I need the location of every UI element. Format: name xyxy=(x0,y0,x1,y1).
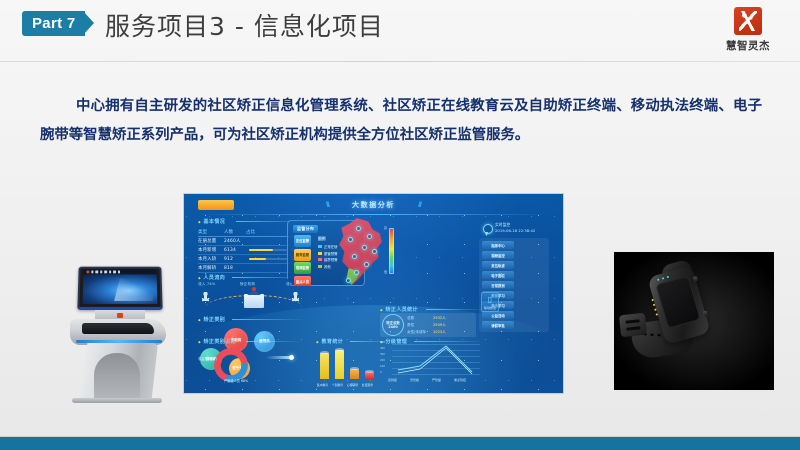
title-slash-right-icon: /// xyxy=(418,202,421,209)
body-paragraph: 中心拥有自主研发的社区矫正信息化管理系统、社区矫正在线教育云及自助矫正终端、移动… xyxy=(40,92,762,150)
panel-heading-basic-info: 基本情况 xyxy=(198,218,225,225)
stat-label: 男性 xyxy=(407,322,433,329)
quick-action[interactable]: 日常报到 xyxy=(482,281,514,289)
x-tick: 重点管控 xyxy=(454,378,466,382)
bar-item xyxy=(350,369,359,379)
panel-rule-barchart xyxy=(350,341,390,342)
wristband-product-image xyxy=(614,252,774,390)
map-marker[interactable] xyxy=(364,262,369,267)
map-marker[interactable] xyxy=(372,249,377,254)
watch-buckle xyxy=(619,313,647,338)
map-marker[interactable] xyxy=(356,226,361,231)
flow-label-in: 流入 74% xyxy=(198,282,216,287)
hud-icon-band[interactable]: 腕带监管 xyxy=(294,249,311,261)
phone-icon: ▯ xyxy=(482,293,498,306)
company-logo: 慧智灵杰 xyxy=(716,7,780,57)
x-tick: 普管级 xyxy=(410,378,419,382)
bar-label: 心理辅导 xyxy=(346,383,359,387)
stat-value: 2509人 xyxy=(433,322,446,329)
datetime-value: 2019-06-18 22:38:42 xyxy=(495,228,535,234)
bar-item xyxy=(365,372,374,379)
kiosk-wallpaper xyxy=(83,274,158,304)
x-tick: 严管级 xyxy=(432,378,441,382)
stat-row: 总数2932人 xyxy=(407,315,476,322)
level-line-chart: 500 400 300 200 100 0 宽管级 普管级 严管级 重点管控 xyxy=(380,342,480,382)
category-donut-chart: 非监禁刑执行 严管级人员 68% xyxy=(198,344,276,388)
panel-datetime: 实时监控 2019-06-18 22:38:42 xyxy=(495,222,535,234)
chart-series-path xyxy=(392,344,492,378)
hud-tab-label[interactable]: 监管分布 xyxy=(293,225,318,233)
page-header: Part 7 服务项目3 - 信息化项目 慧智灵杰 xyxy=(0,0,800,62)
bar-x-labels: 集中教育 个别教育 心理辅导 社区服务 xyxy=(316,383,374,387)
col-count: 人数 xyxy=(224,229,246,235)
hud-icon-alert[interactable]: 重点人员 xyxy=(294,276,311,288)
donut-label: 严管级人员 68% xyxy=(224,378,248,383)
flow-diagram: 流入 74% 矫正机构 流出 26% xyxy=(198,282,310,312)
row-label: 本月入矫 xyxy=(198,256,224,262)
panel-heading-flow: 人员流向 xyxy=(198,274,225,281)
kiosk-body xyxy=(76,343,158,401)
quick-action[interactable]: 指挥中心 xyxy=(482,241,514,249)
bar-item xyxy=(335,350,344,379)
person-icon-right xyxy=(292,292,299,308)
map-marker[interactable] xyxy=(354,270,359,275)
kiosk-tray xyxy=(70,319,166,345)
logo-text: 慧智灵杰 xyxy=(716,38,780,53)
watch-button-top[interactable] xyxy=(693,276,698,282)
stat-value: 2932人 xyxy=(433,315,446,322)
dashboard-header-rule xyxy=(198,214,549,215)
donut-ring xyxy=(214,348,248,382)
map-scale-low: 低 xyxy=(384,270,387,274)
quick-action[interactable]: 电子围栏 xyxy=(482,271,514,279)
quick-action[interactable]: 公益活动 xyxy=(482,311,514,319)
stat-label: 女性/未成年 xyxy=(407,329,433,336)
bar-label: 集中教育 xyxy=(316,383,329,387)
row-value: 818 xyxy=(224,266,246,271)
quick-action-grid: 指挥中心 视频监控 定位轨迹 电子围栏 日常报到 教育学习 集中学习 公益活动 … xyxy=(479,238,549,332)
bar-series xyxy=(320,350,374,379)
stat-label: 总数 xyxy=(407,315,433,322)
hud-icon-locate[interactable]: 定位监管 xyxy=(294,235,311,247)
mid-stats-badge: 矫正总数 2460 xyxy=(382,314,404,336)
quick-action[interactable]: 请假审批 xyxy=(482,321,514,329)
part-tag: Part 7 xyxy=(22,11,85,36)
row-value: 2460人 xyxy=(224,238,246,244)
stat-value: 1023人 xyxy=(433,329,446,336)
footer-bar xyxy=(0,437,800,450)
quick-action[interactable]: 定位轨迹 xyxy=(482,261,514,269)
stat-row: 女性/未成年1023人 xyxy=(407,329,476,336)
bar-label: 社区服务 xyxy=(361,383,374,387)
map-marker[interactable] xyxy=(348,237,353,242)
page-title: 服务项目3 - 信息化项目 xyxy=(105,7,384,43)
kiosk-screen xyxy=(77,267,162,310)
mid-stats-rows: 总数2932人 男性2509人 女性/未成年1023人 xyxy=(407,315,476,336)
panel-heading-midstats: 矫正人员统计 xyxy=(380,306,418,313)
region-map[interactable]: 高 低 xyxy=(334,218,396,296)
row-label: 本月新增 xyxy=(198,247,224,253)
stat-row: 男性2509人 xyxy=(407,322,476,329)
map-color-scale xyxy=(389,228,394,274)
panel-rule-donut xyxy=(246,341,302,342)
kiosk-base xyxy=(72,398,162,403)
kiosk-screen-toolbar xyxy=(83,270,156,275)
row-bar xyxy=(249,258,287,260)
kiosk-product-image xyxy=(62,266,170,404)
title-slash-left-icon: \\\ xyxy=(326,202,329,209)
bar-label: 个别教育 xyxy=(331,383,344,387)
education-bar-chart: 集中教育 个别教育 心理辅导 社区服务 xyxy=(316,344,394,388)
panel-rule-category xyxy=(232,319,306,320)
legend-label: 其他 xyxy=(324,264,331,269)
part-tag-arrow-icon xyxy=(83,11,94,35)
hud-icon-list: 定位监管 腕带监管 视频监管 重点人员 xyxy=(294,235,311,289)
institution-icon xyxy=(244,294,264,308)
dashboard-screenshot: 大数据分析 \\\ /// 基本情况 类型 人数 占比 在册总量 2460人 本… xyxy=(183,193,564,394)
mid-stats-box: 矫正总数 2460 总数2932人 男性2509人 女性/未成年1023人 xyxy=(380,313,476,337)
map-marker[interactable] xyxy=(367,234,372,239)
map-marker[interactable] xyxy=(346,278,351,283)
watch-button-bottom[interactable] xyxy=(703,311,708,317)
hud-icon-video[interactable]: 视频监管 xyxy=(294,262,311,274)
watch-face-screen xyxy=(655,275,700,329)
map-marker[interactable] xyxy=(352,254,357,259)
row-value: 912 xyxy=(224,257,246,262)
map-marker[interactable] xyxy=(362,245,367,250)
logo-mark-icon xyxy=(734,7,762,35)
map-scale-high: 高 xyxy=(384,226,387,230)
dashboard-title: 大数据分析 xyxy=(184,200,563,210)
header-divider xyxy=(0,61,800,62)
clock-icon xyxy=(481,222,492,236)
bar-item xyxy=(320,353,329,379)
panel-rule-midstats xyxy=(426,309,486,310)
person-icon-left xyxy=(202,292,209,308)
row-bar xyxy=(249,249,287,251)
col-pct: 占比 xyxy=(246,229,264,235)
row-value: 6134 xyxy=(224,248,246,253)
row-label: 在册总量 xyxy=(198,238,224,244)
quick-action[interactable]: 视频监控 xyxy=(482,251,514,259)
row-label: 本月解矫 xyxy=(198,265,224,271)
col-type: 类型 xyxy=(198,229,224,235)
watch-side-leds xyxy=(651,299,658,319)
donut-label: 非监禁刑执行 xyxy=(198,356,217,361)
realtime-control-panel: 实时监控 2019-06-18 22:38:42 指挥中心 视频监控 定位轨迹 … xyxy=(477,220,551,302)
